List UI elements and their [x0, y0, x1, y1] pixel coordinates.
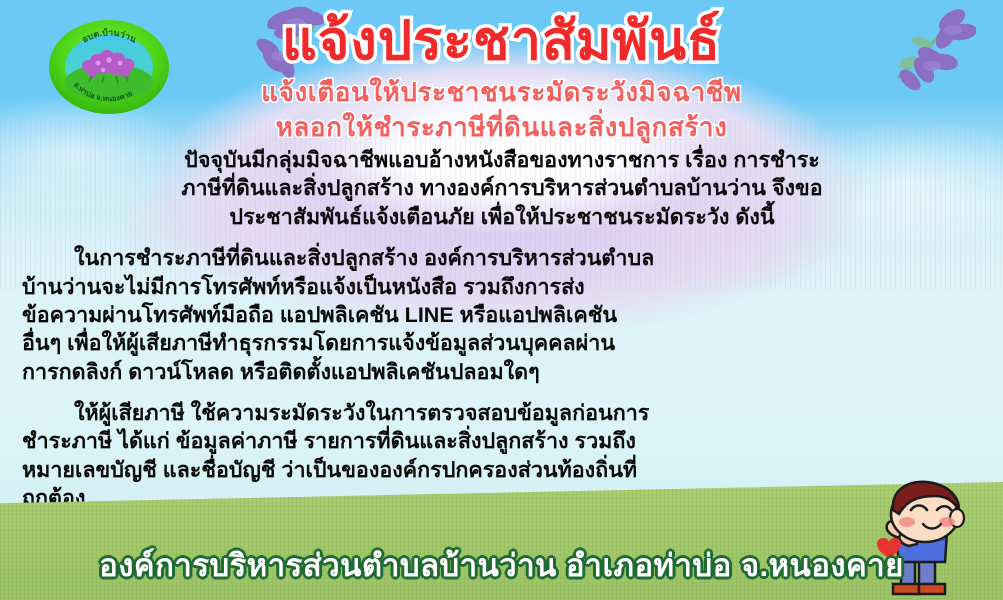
paragraph-2-line-3: ข้อความผ่านโทรศัพท์มือถือ แอปพลิเคชัน LI…: [22, 301, 982, 329]
paragraph-3-line-1: ให้ผู้เสียภาษี ใช้ความระมัดระวังในการตรว…: [22, 399, 982, 427]
subtitle-line-1: แจ้งเตือนให้ประชาชนระมัดระวังมิจฉาชีพ: [0, 75, 1003, 110]
paragraph-3-line-1-text: ให้ผู้เสียภาษี ใช้ความระมัดระวังในการตรว…: [74, 401, 649, 425]
paragraph-2-line-2: บ้านว่านจะไม่มีการโทรศัพท์หรือแจ้งเป็นหน…: [22, 273, 982, 301]
poster-heading-block: แจ้งประชาสัมพันธ์ แจ้งเตือนให้ประชาชนระม…: [0, 14, 1003, 145]
paragraph-3-line-2: ชำระภาษี ได้แก่ ข้อมูลค่าภาษี รายการที่ด…: [22, 427, 982, 455]
paragraph-1-line-1: ปัจจุบันมีกลุ่มมิจฉาชีพแอบอ้างหนังสือของ…: [22, 146, 982, 174]
paragraph-2-line-5: การกดลิงก์ ดาวน์โหลด หรือติดตั้งแอปพลิเค…: [22, 358, 982, 386]
paragraph-2-line-1-text: ในการชำระภาษีที่ดินและสิ่งปลูกสร้าง องค์…: [74, 246, 654, 270]
page-title: แจ้งประชาสัมพันธ์: [0, 14, 1003, 69]
paragraph-2: ในการชำระภาษีที่ดินและสิ่งปลูกสร้าง องค์…: [22, 244, 982, 386]
poster-body: ปัจจุบันมีกลุ่มมิจฉาชีพแอบอ้างหนังสือของ…: [22, 146, 982, 513]
paragraph-1: ปัจจุบันมีกลุ่มมิจฉาชีพแอบอ้างหนังสือของ…: [22, 146, 982, 231]
paragraph-1-line-2: ภาษีที่ดินและสิ่งปลูกสร้าง ทางองค์การบริ…: [22, 174, 982, 202]
paragraph-2-line-1: ในการชำระภาษีที่ดินและสิ่งปลูกสร้าง องค์…: [22, 244, 982, 272]
subtitle-line-2: หลอกให้ชำระภาษีที่ดินและสิ่งปลูกสร้าง: [0, 110, 1003, 145]
paragraph-2-line-4: อื่นๆ เพื่อให้ผู้เสียภาษีทำธุรกรรมโดยการ…: [22, 329, 982, 357]
paragraph-3-line-3: หมายเลขบัญชี และชื่อบัญชี ว่าเป็นขององค์…: [22, 456, 982, 484]
poster-canvas: อบต.บ้านว่าน อ.ท่าบ่อ จ.หนองคาย: [0, 0, 1003, 600]
page-subtitle: แจ้งเตือนให้ประชาชนระมัดระวังมิจฉาชีพ หล…: [0, 75, 1003, 145]
paragraph-1-line-3: ประชาสัมพันธ์แจ้งเตือนภัย เพื่อให้ประชาช…: [22, 203, 982, 231]
footer-organization-name: องค์การบริหารส่วนตำบลบ้านว่าน อำเภอท่าบ่…: [0, 540, 1003, 590]
